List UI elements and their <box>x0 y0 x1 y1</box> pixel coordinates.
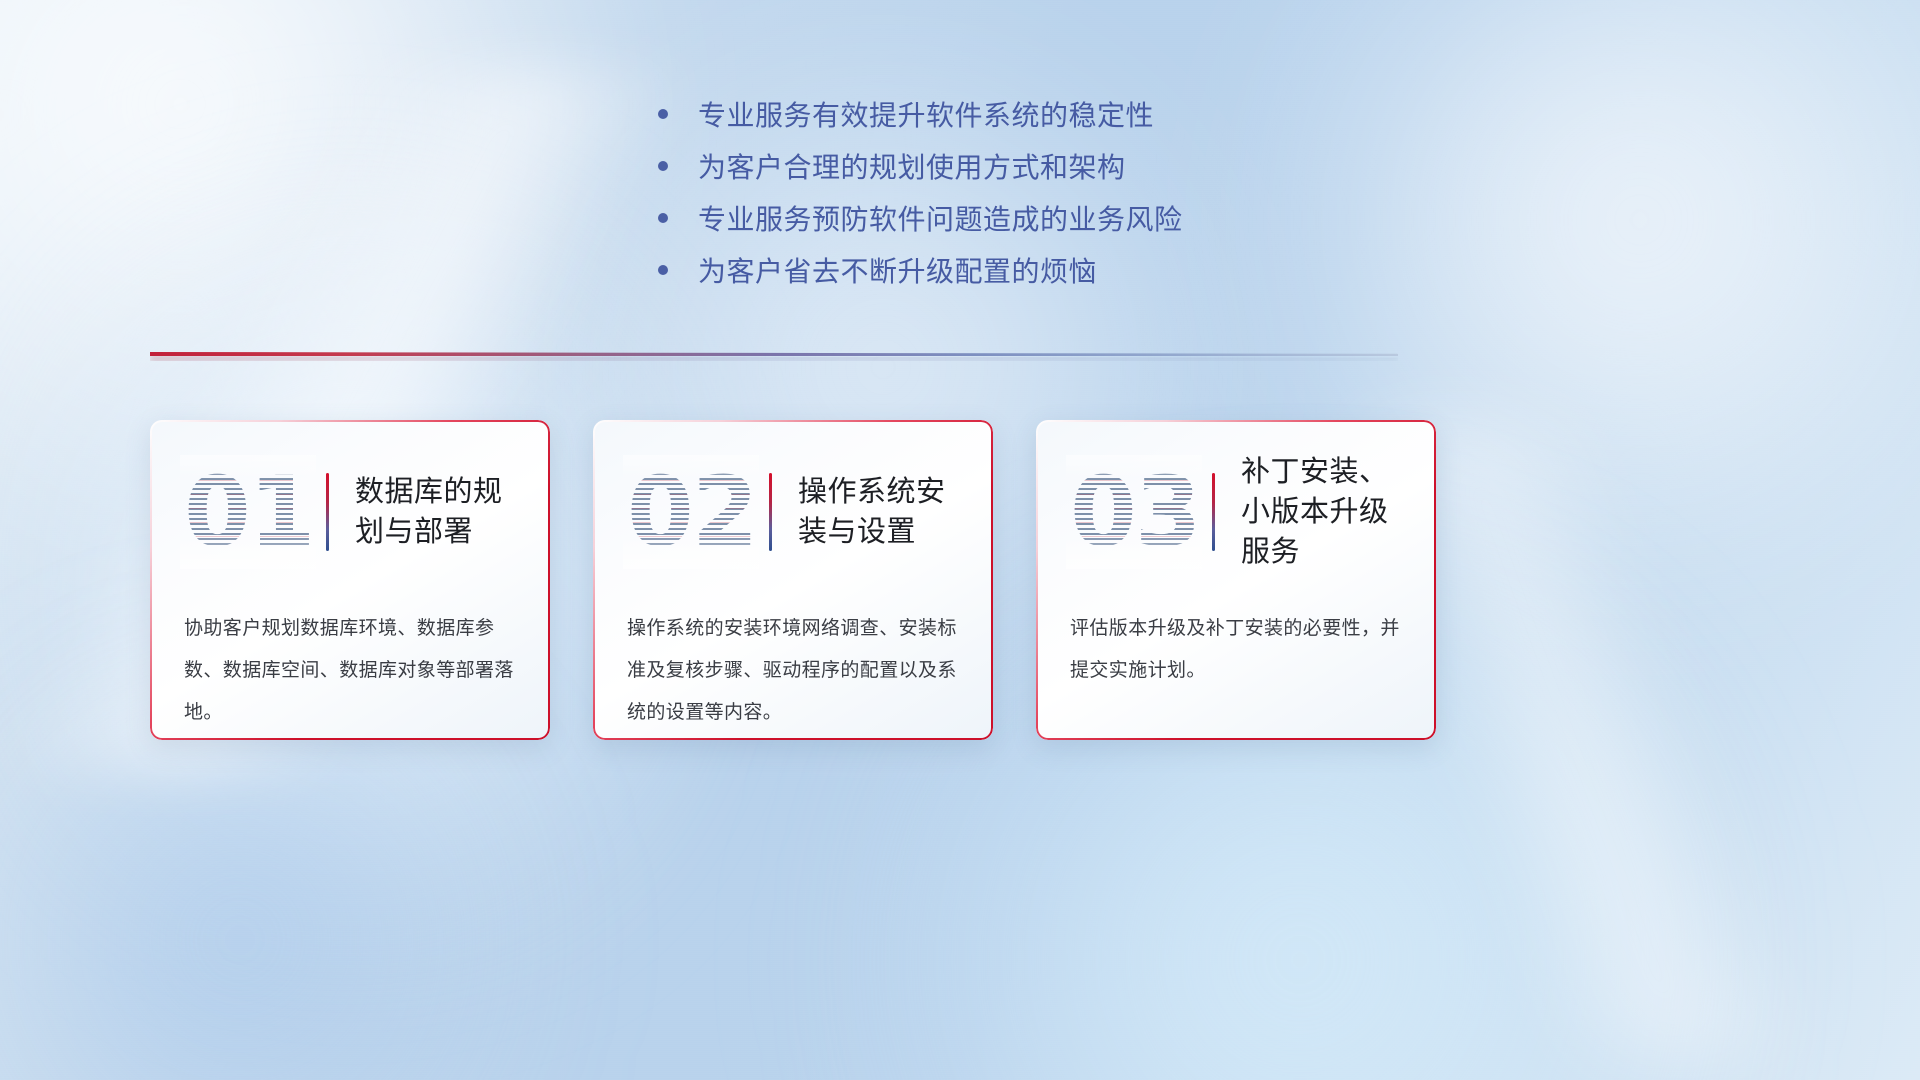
card-number-watermark: 03 03 <box>1070 459 1198 565</box>
card-header: 03 03 补丁安装、小版本升级服务 <box>1070 456 1402 568</box>
card-header: 02 02 操作系统安装与设置 <box>627 456 959 568</box>
list-item: 为客户省去不断升级配置的烦恼 <box>650 244 1270 296</box>
list-item-label: 为客户合理的规划使用方式和架构 <box>698 146 1126 186</box>
service-card-02[interactable]: 02 02 操作系统安装与设置 操作系统的安装环境网络调查、安装标准及复核步骤、… <box>593 420 993 740</box>
list-item: 专业服务有效提升软件系统的稳定性 <box>650 88 1270 140</box>
card-number-watermark: 02 02 <box>627 459 755 565</box>
card-description: 协助客户规划数据库环境、数据库参数、数据库空间、数据库对象等部署落地。 <box>184 608 516 733</box>
list-item: 专业服务预防软件问题造成的业务风险 <box>650 192 1270 244</box>
card-number-tint: 02 <box>627 459 755 565</box>
divider-line <box>150 352 1398 356</box>
bullet-dot-icon <box>658 109 668 119</box>
service-card-01[interactable]: 01 01 数据库的规划与部署 协助客户规划数据库环境、数据库参数、数据库空间、… <box>150 420 550 740</box>
service-card-03[interactable]: 03 03 补丁安装、小版本升级服务 评估版本升级及补丁安装的必要性，并提交实施… <box>1036 420 1436 740</box>
list-item: 为客户合理的规划使用方式和架构 <box>650 140 1270 192</box>
accent-bar <box>326 473 329 551</box>
card-number-tint: 01 <box>184 459 312 565</box>
list-item-label: 为客户省去不断升级配置的烦恼 <box>698 250 1097 290</box>
card-description: 操作系统的安装环境网络调查、安装标准及复核步骤、驱动程序的配置以及系统的设置等内… <box>627 608 959 733</box>
card-number-tint: 03 <box>1070 459 1198 565</box>
accent-bar <box>1212 473 1215 551</box>
gradient-divider <box>150 348 1398 362</box>
card-title: 数据库的规划与部署 <box>355 472 516 552</box>
card-title: 补丁安装、小版本升级服务 <box>1241 452 1402 572</box>
bullet-dot-icon <box>658 265 668 275</box>
list-item-label: 专业服务有效提升软件系统的稳定性 <box>698 94 1154 134</box>
accent-bar <box>769 473 772 551</box>
benefits-list: 专业服务有效提升软件系统的稳定性 为客户合理的规划使用方式和架构 专业服务预防软… <box>0 88 1920 296</box>
bullet-dot-icon <box>658 161 668 171</box>
bullet-dot-icon <box>658 213 668 223</box>
service-cards: 01 01 数据库的规划与部署 协助客户规划数据库环境、数据库参数、数据库空间、… <box>150 420 1436 740</box>
card-description: 评估版本升级及补丁安装的必要性，并提交实施计划。 <box>1070 608 1402 692</box>
card-number-watermark: 01 01 <box>184 459 312 565</box>
divider-shadow <box>150 356 1398 361</box>
list-item-label: 专业服务预防软件问题造成的业务风险 <box>698 198 1183 238</box>
card-title: 操作系统安装与设置 <box>798 472 959 552</box>
card-header: 01 01 数据库的规划与部署 <box>184 456 516 568</box>
